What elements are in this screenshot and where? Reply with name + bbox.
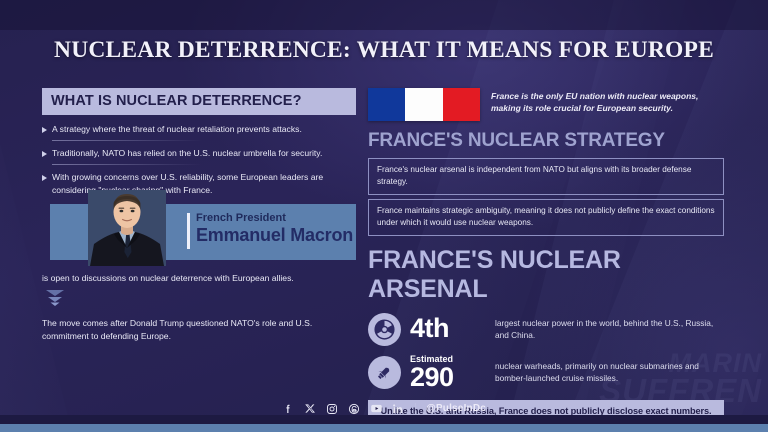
strategy-point-box: France maintains strategic ambiguity, me… bbox=[368, 199, 724, 236]
macron-name-block: French President Emmanuel Macron bbox=[196, 212, 353, 245]
bullet-triangle-icon bbox=[42, 127, 47, 133]
person-name: Emmanuel Macron bbox=[196, 225, 353, 245]
stat-value: 290 bbox=[410, 365, 486, 391]
divider bbox=[415, 403, 416, 414]
top-band bbox=[0, 0, 768, 30]
flag-row: France is the only EU nation with nuclea… bbox=[368, 88, 724, 121]
chevron-down-icon bbox=[44, 289, 356, 312]
bullet-triangle-icon bbox=[42, 151, 47, 157]
list-item-text: A strategy where the threat of nuclear r… bbox=[52, 123, 302, 135]
bullet-triangle-icon bbox=[42, 175, 47, 181]
linkedin-icon[interactable] bbox=[392, 402, 405, 415]
facebook-icon[interactable] bbox=[282, 402, 295, 415]
page-title: NUCLEAR DETERRENCE: WHAT IT MEANS FOR EU… bbox=[0, 37, 768, 64]
macron-caption: is open to discussions on nuclear deterr… bbox=[42, 272, 356, 284]
list-item: A strategy where the threat of nuclear r… bbox=[42, 123, 356, 135]
youtube-icon[interactable] bbox=[370, 402, 383, 415]
stat-value-block: 4th bbox=[410, 316, 486, 342]
bottom-band-accent bbox=[0, 424, 768, 432]
list-item-text: Traditionally, NATO has relied on the U.… bbox=[52, 147, 322, 159]
accent-bar bbox=[187, 213, 190, 249]
stat-description: nuclear warheads, primarily on nuclear s… bbox=[495, 360, 724, 384]
threads-icon[interactable] bbox=[348, 402, 361, 415]
missile-icon bbox=[368, 356, 401, 389]
section-header-deterrence: WHAT IS NUCLEAR DETERRENCE? bbox=[42, 88, 356, 115]
left-column: WHAT IS NUCLEAR DETERRENCE? A strategy w… bbox=[42, 88, 356, 343]
trump-followup-text: The move comes after Donald Trump questi… bbox=[42, 317, 356, 343]
footer: @PulseInDc bbox=[0, 402, 768, 415]
section-header-strategy: FRANCE'S NUCLEAR STRATEGY bbox=[368, 130, 724, 152]
divider bbox=[52, 164, 202, 165]
stat-row-warheads: Estimated 290 nuclear warheads, primaril… bbox=[368, 355, 724, 391]
macron-banner: French President Emmanuel Macron bbox=[42, 204, 356, 266]
stat-value-block: Estimated 290 bbox=[410, 355, 486, 391]
stat-description: largest nuclear power in the world, behi… bbox=[495, 317, 724, 341]
social-handle: @PulseInDc bbox=[426, 403, 486, 414]
divider bbox=[52, 140, 202, 141]
person-role: French President bbox=[196, 212, 353, 225]
radiation-icon bbox=[368, 313, 401, 346]
x-icon[interactable] bbox=[304, 402, 317, 415]
list-item: Traditionally, NATO has relied on the U.… bbox=[42, 147, 356, 159]
flag-note: France is the only EU nation with nuclea… bbox=[491, 88, 724, 115]
flag-stripe-red bbox=[443, 88, 480, 121]
flag-stripe-blue bbox=[368, 88, 405, 121]
right-column: France is the only EU nation with nuclea… bbox=[368, 88, 724, 422]
france-flag-icon bbox=[368, 88, 480, 121]
bottom-band-dark bbox=[0, 415, 768, 424]
deterrence-bullet-list: A strategy where the threat of nuclear r… bbox=[42, 123, 356, 196]
infographic-canvas: MARIN SUFFREN NUCLEAR DETERRENCE: WHAT I… bbox=[0, 0, 768, 432]
stat-row-rank: 4th largest nuclear power in the world, … bbox=[368, 313, 724, 346]
flag-stripe-white bbox=[405, 88, 442, 121]
instagram-icon[interactable] bbox=[326, 402, 339, 415]
avatar bbox=[88, 190, 166, 266]
stat-value: 4th bbox=[410, 316, 486, 342]
macron-banner-text: French President Emmanuel Macron bbox=[187, 212, 353, 249]
macron-portrait-icon bbox=[88, 190, 166, 266]
strategy-point-box: France's nuclear arsenal is independent … bbox=[368, 158, 724, 195]
section-header-arsenal: FRANCE'S NUCLEAR ARSENAL bbox=[368, 246, 724, 304]
